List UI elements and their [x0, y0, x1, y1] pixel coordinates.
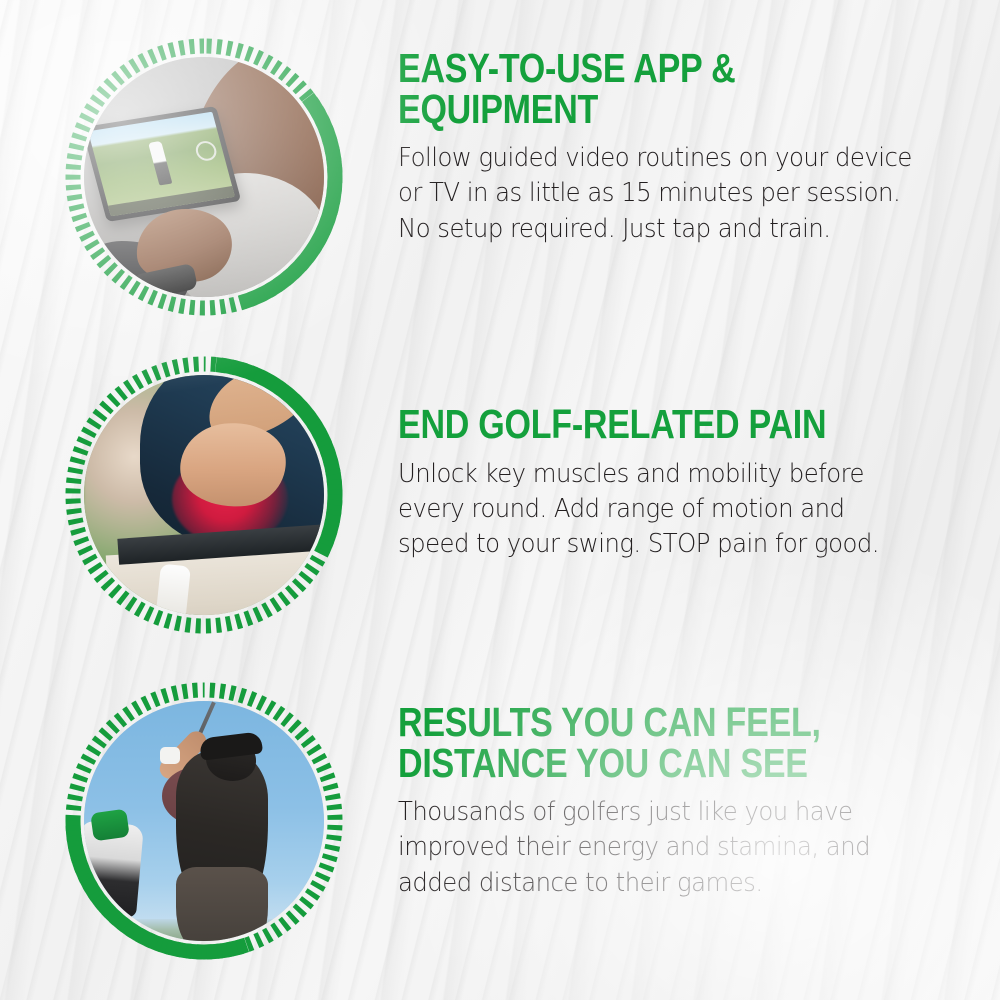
golf-bag-headcover [90, 809, 130, 842]
feature-row-results-you-can-feel: RESULTS YOU CAN FEEL, DISTANCE YOU CAN S… [0, 678, 1000, 966]
video-badge [194, 140, 219, 162]
feature-body: Follow guided video routines on your dev… [398, 141, 940, 247]
feature-media-results-you-can-feel [61, 678, 351, 966]
feature-media-end-golf-related-pain [61, 352, 351, 640]
feature-text-results-you-can-feel: RESULTS YOU CAN FEEL, DISTANCE YOU CAN S… [351, 678, 1000, 901]
photo-man-using-tablet-app [84, 57, 324, 297]
feature-text-easy-to-use-app: EASY-TO-USE APP & EQUIPMENT Follow guide… [351, 34, 1000, 247]
video-golfer-figure [148, 141, 172, 186]
feature-text-end-golf-related-pain: END GOLF-RELATED PAIN Unlock key muscles… [351, 352, 1000, 562]
golf-glove-in-pocket [155, 564, 191, 615]
golf-glove [160, 747, 180, 764]
feature-media-easy-to-use-app [61, 34, 351, 322]
feature-headline: RESULTS YOU CAN FEEL, DISTANCE YOU CAN S… [398, 702, 869, 783]
feature-headline: EASY-TO-USE APP & EQUIPMENT [398, 48, 869, 129]
feature-row-end-golf-related-pain: END GOLF-RELATED PAIN Unlock key muscles… [0, 352, 1000, 638]
trousers-shape [176, 867, 268, 941]
feature-headline: END GOLF-RELATED PAIN [398, 404, 869, 445]
photo-golfer-back-pain [84, 375, 324, 615]
photo-golfer-follow-through [84, 701, 324, 941]
tablet-screen [88, 112, 235, 217]
feature-row-easy-to-use-app: EASY-TO-USE APP & EQUIPMENT Follow guide… [0, 34, 1000, 314]
infographic-page: EASY-TO-USE APP & EQUIPMENT Follow guide… [0, 0, 1000, 1000]
feature-body: Thousands of golfers just like you have … [398, 795, 940, 901]
feature-body: Unlock key muscles and mobility before e… [398, 457, 940, 563]
